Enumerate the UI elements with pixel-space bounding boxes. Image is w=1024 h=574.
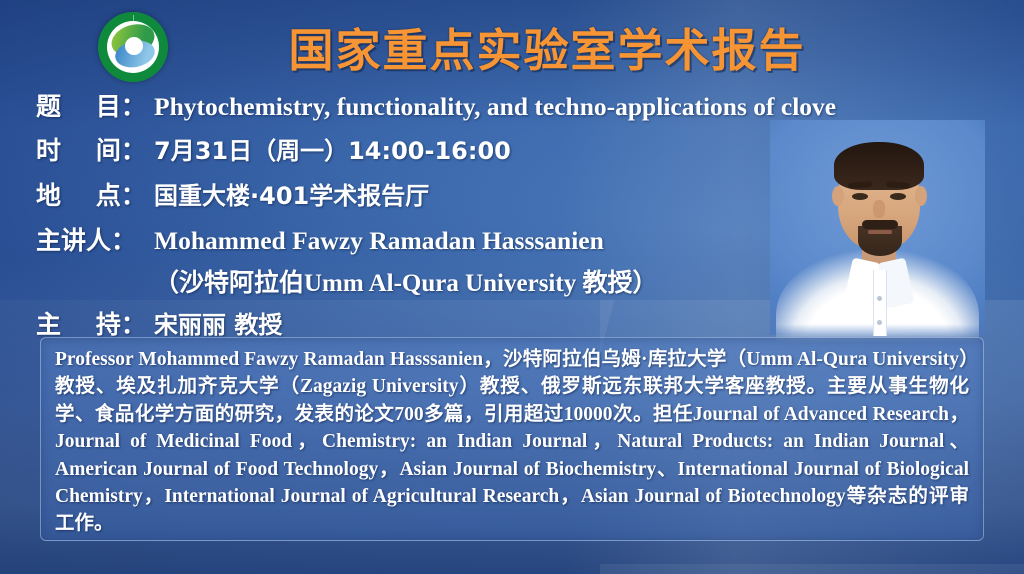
detail-value-topic: Phytochemistry, functionality, and techn… xyxy=(154,86,996,127)
page-title: 国家重点实验室学术报告 xyxy=(0,14,1024,79)
speaker-biography-panel: Professor Mohammed Fawzy Ramadan Hasssan… xyxy=(40,337,984,541)
detail-value-location: 国重大楼·401学术报告厅 xyxy=(154,176,996,217)
detail-label-location: 地 点： xyxy=(36,175,154,216)
detail-label-time: 时 间： xyxy=(36,130,154,171)
announcement-poster: 国家重点实验室学术报告 题 目： Phytochemistry, functio… xyxy=(0,0,1024,574)
detail-row-speaker: 主讲人： Mohammed Fawzy Ramadan Hasssanien xyxy=(36,220,996,261)
detail-label-topic: 题 目： xyxy=(36,86,154,127)
speaker-affiliation: （沙特阿拉伯Umm Al-Qura University 教授） xyxy=(154,264,996,304)
detail-label-speaker: 主讲人： xyxy=(36,220,154,261)
detail-row-topic: 题 目： Phytochemistry, functionality, and … xyxy=(36,86,996,127)
detail-value-time: 7月31日（周一）14:00-16:00 xyxy=(154,131,996,172)
detail-value-speaker: Mohammed Fawzy Ramadan Hasssanien xyxy=(154,220,996,261)
detail-row-location: 地 点： 国重大楼·401学术报告厅 xyxy=(36,175,996,217)
detail-row-time: 时 间： 7月31日（周一）14:00-16:00 xyxy=(36,130,996,172)
event-details: 题 目： Phytochemistry, functionality, and … xyxy=(36,86,996,349)
poster-header: 国家重点实验室学术报告 xyxy=(0,0,1024,88)
